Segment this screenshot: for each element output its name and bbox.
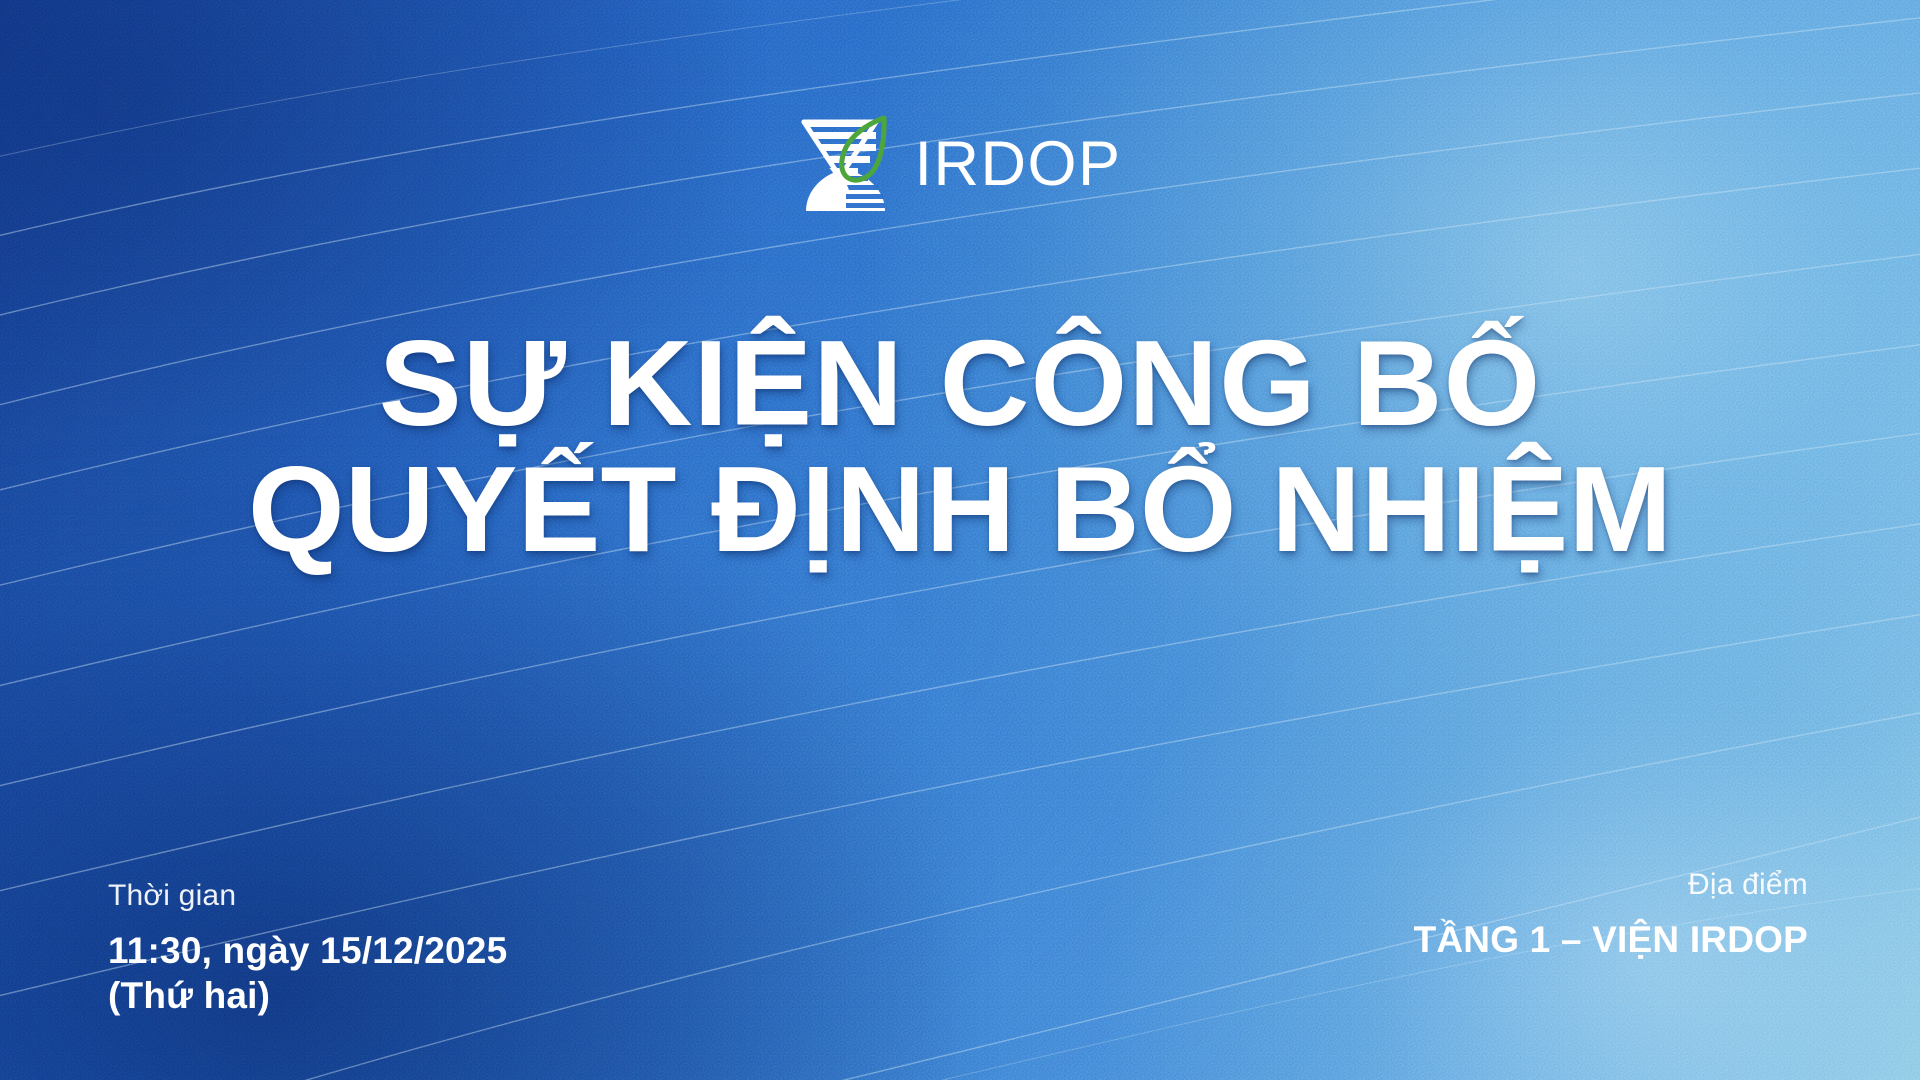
headline-line-2: QUYẾT ĐỊNH BỔ NHIỆM <box>0 447 1920 573</box>
event-time-value: 11:30, ngày 15/12/2025 (Thứ hai) <box>108 928 507 1018</box>
brand-name: IRDOP <box>914 133 1121 196</box>
headline-line-1: SỰ KIỆN CÔNG BỐ <box>0 321 1920 447</box>
irdop-dna-leaf-logo-icon <box>798 112 894 216</box>
brand-lockup: IRDOP <box>0 112 1920 216</box>
event-banner: IRDOP SỰ KIỆN CÔNG BỐ QUYẾT ĐỊNH BỔ NHIỆ… <box>0 0 1920 1080</box>
event-time-label: Thời gian <box>108 878 507 914</box>
event-time-block: Thời gian 11:30, ngày 15/12/2025 (Thứ ha… <box>108 878 507 1018</box>
event-place-label: Địa điểm <box>1414 867 1808 903</box>
event-place-block: Địa điểm TẦNG 1 – VIỆN IRDOP <box>1414 867 1808 962</box>
page-title: SỰ KIỆN CÔNG BỐ QUYẾT ĐỊNH BỔ NHIỆM <box>0 321 1920 572</box>
event-place-value: TẦNG 1 – VIỆN IRDOP <box>1414 917 1808 962</box>
banner-content: IRDOP SỰ KIỆN CÔNG BỐ QUYẾT ĐỊNH BỔ NHIỆ… <box>0 0 1920 1080</box>
